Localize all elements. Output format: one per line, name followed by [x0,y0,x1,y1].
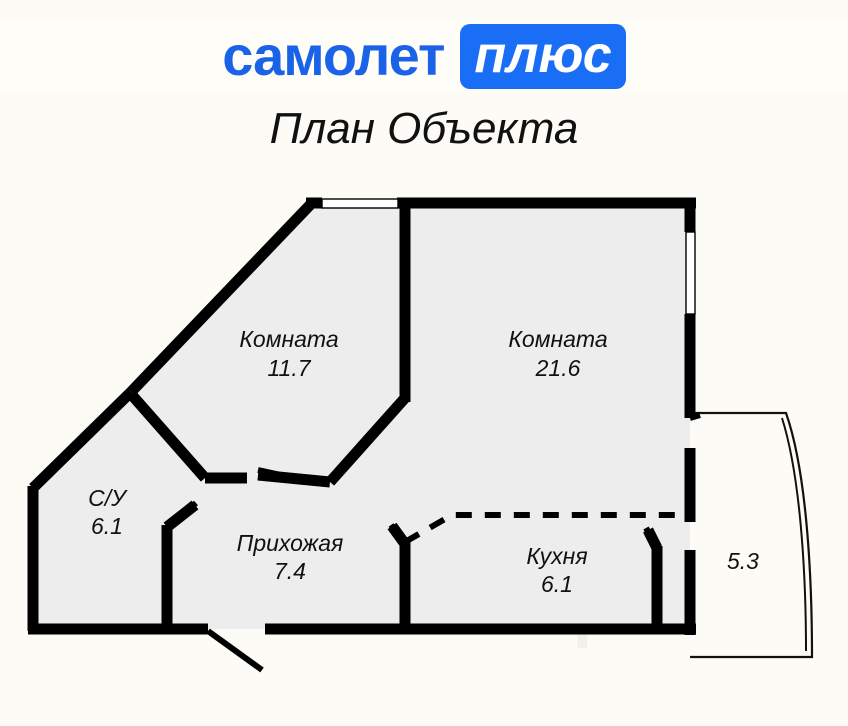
bathroom-area: 6.1 [91,513,123,539]
floor-plan-canvas: самолет плюс [0,170,848,726]
room-2-area: 21.6 [535,355,581,381]
room-label-balcony: 5.3 [727,548,759,574]
logo-badge: плюс [460,24,625,89]
page-title: План Объекта [0,104,848,154]
floor-plan-page: самолет плюс План Объекта самолет плюс [0,0,848,726]
kitchen-name: Кухня [526,543,587,569]
door-balcony-swing [690,415,700,418]
room-1-name: Комната [239,326,338,352]
logo-wordmark: самолет [222,28,444,84]
balcony-region [690,413,812,657]
window-right-room2 [686,232,695,314]
hallway-area: 7.4 [274,558,306,584]
floor-plan-svg: самолет плюс [0,170,848,726]
kitchen-area: 6.1 [541,571,573,597]
balcony-area: 5.3 [727,548,759,574]
brand-logo: самолет плюс [0,22,848,90]
logo-badge-label: плюс [474,26,611,84]
room-1-area: 11.7 [267,355,311,381]
room-2-name: Комната [508,326,607,352]
hallway-name: Прихожая [237,530,344,556]
window-top-room1 [322,199,398,208]
bathroom-name: С/У [88,485,128,511]
